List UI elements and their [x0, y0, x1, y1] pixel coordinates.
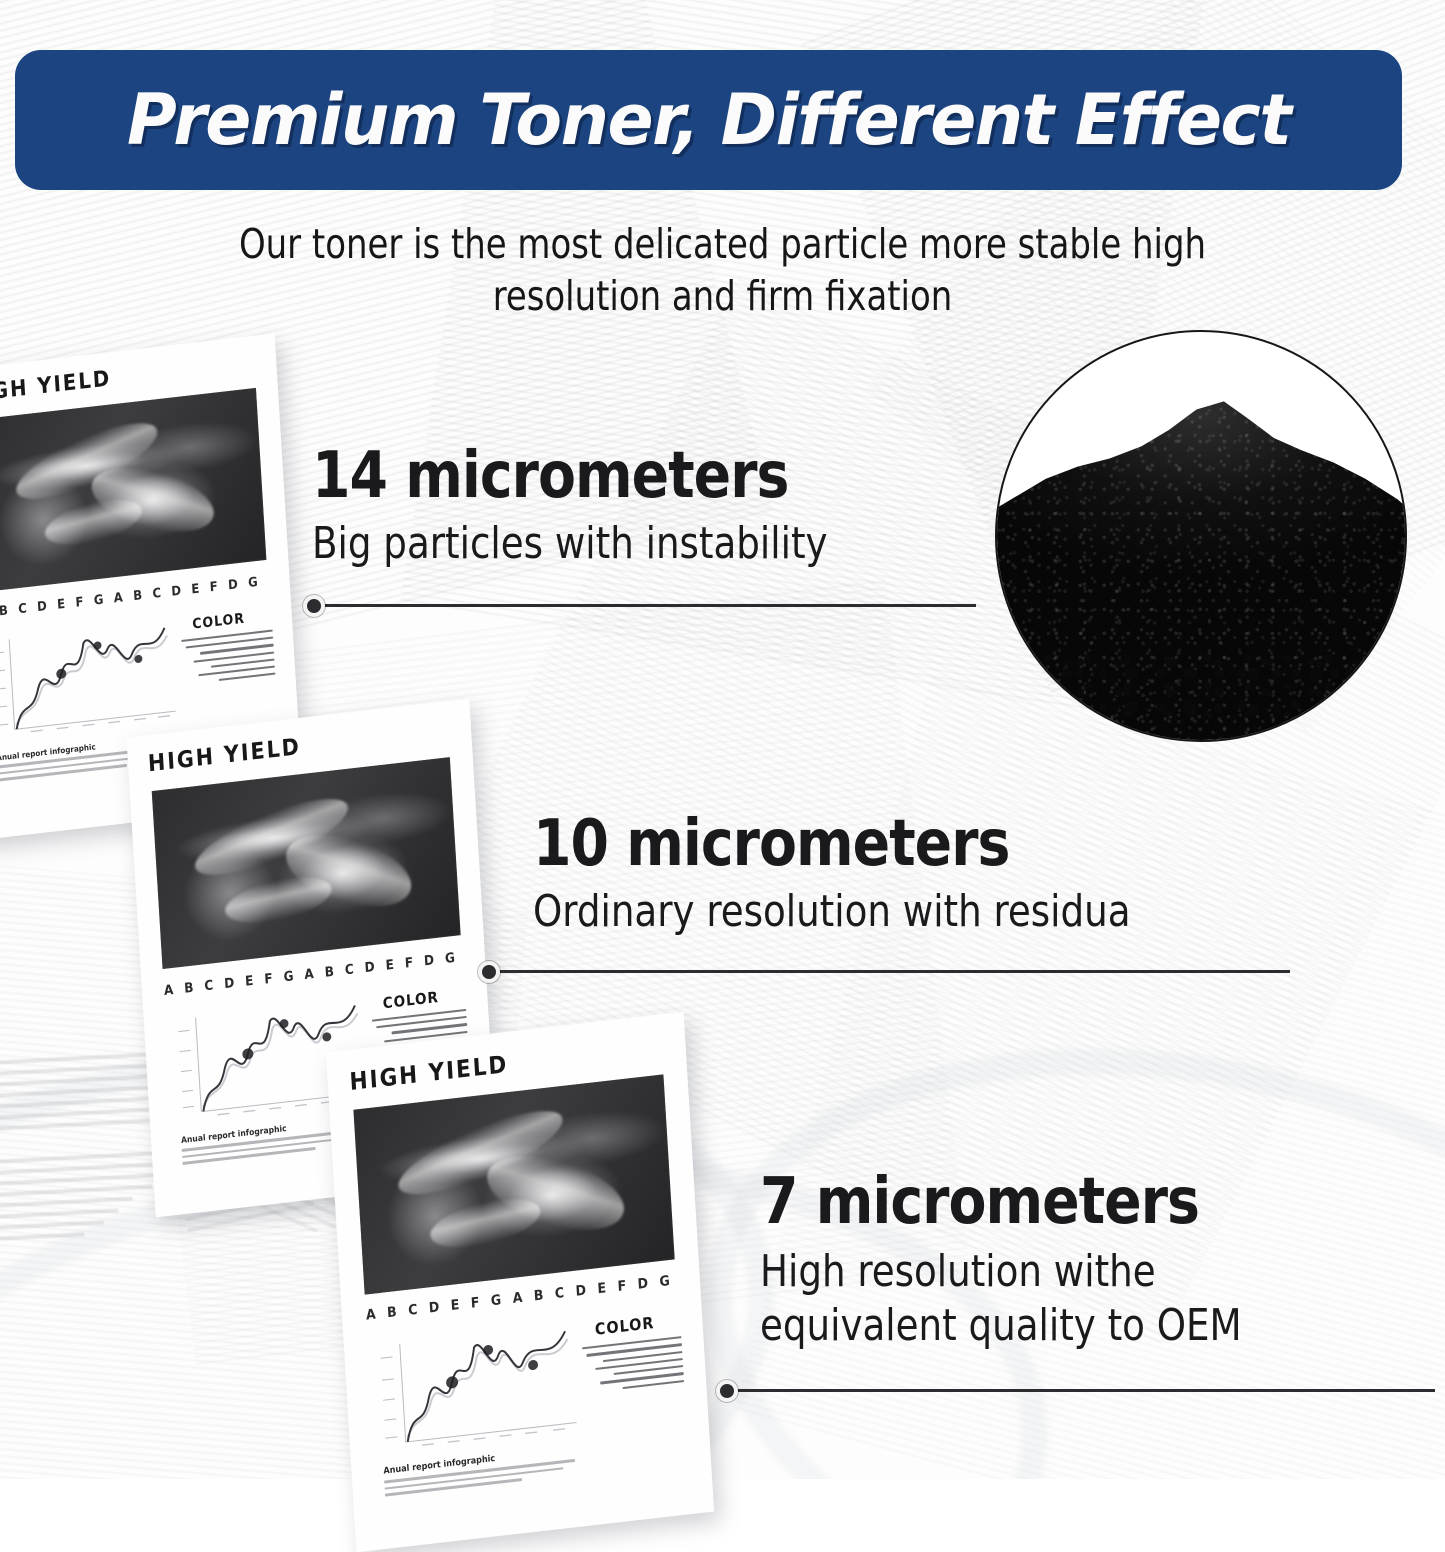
sheet-color-heading: COLOR	[192, 611, 246, 633]
sheet-color-heading: COLOR	[382, 988, 439, 1012]
sheet-title: HIGH YIELD	[147, 734, 301, 777]
sheet-chart	[372, 1318, 582, 1461]
callout-rule-1	[316, 604, 976, 607]
callout-7-micrometers: 7 micrometers High resolution withe equi…	[760, 1165, 1440, 1353]
sheet-chart-svg	[0, 615, 181, 748]
sheet-chart-svg	[372, 1318, 582, 1461]
toner-spill-particles	[1030, 650, 1373, 715]
callout-subtext-line-1: Ordinary resolution with residua	[533, 886, 1131, 937]
callout-subtext: Big particles with instability	[312, 516, 951, 572]
callout-heading: 10 micrometers	[533, 808, 1263, 880]
callout-rule-2	[492, 970, 1290, 973]
callout-14-micrometers: 14 micrometers Big particles with instab…	[312, 440, 992, 572]
sheet-color-body	[582, 1336, 684, 1393]
callout-rule-3	[730, 1389, 1435, 1392]
sheet-title: HIGH YIELD	[349, 1050, 509, 1096]
toner-powder-photo	[995, 330, 1407, 742]
sheet-photo	[152, 757, 461, 969]
printed-sheet-3: HIGH YIELD A B C D E F G A B C D E F D G	[326, 1012, 714, 1552]
callout-rule-dot-1	[303, 595, 325, 617]
callout-10-micrometers: 10 micrometers Ordinary resolution with …	[533, 808, 1293, 940]
sheet-chart	[0, 615, 181, 748]
callout-rule-dot-3	[716, 1380, 738, 1402]
sheet-photo	[0, 388, 266, 593]
callout-rule-dot-2	[478, 961, 500, 983]
callout-heading: 7 micrometers	[760, 1165, 1413, 1239]
callout-subtext-line-1: High resolution withe	[760, 1246, 1156, 1297]
sheet-photo	[353, 1074, 674, 1294]
sheet-title: HIGH YIELD	[0, 366, 112, 408]
sheet-color-body	[181, 630, 275, 686]
callout-subtext: Ordinary resolution with residua	[533, 884, 1247, 940]
callout-subtext-line-1: Big particles with instability	[312, 518, 828, 569]
subtitle-line-2: resolution and firm fixation	[58, 270, 1387, 322]
subtitle-line-1: Our toner is the most delicated particle…	[239, 220, 1206, 268]
callout-subtext: High resolution withe equivalent quality…	[760, 1245, 1399, 1353]
header-banner: Premium Toner, Different Effect	[15, 50, 1402, 190]
callout-heading: 14 micrometers	[312, 440, 965, 512]
sheet-color-heading: COLOR	[594, 1313, 654, 1339]
callout-subtext-line-2: equivalent quality to OEM	[760, 1299, 1399, 1353]
subtitle: Our toner is the most delicated particle…	[58, 218, 1387, 322]
page-title: Premium Toner, Different Effect	[127, 79, 1290, 161]
